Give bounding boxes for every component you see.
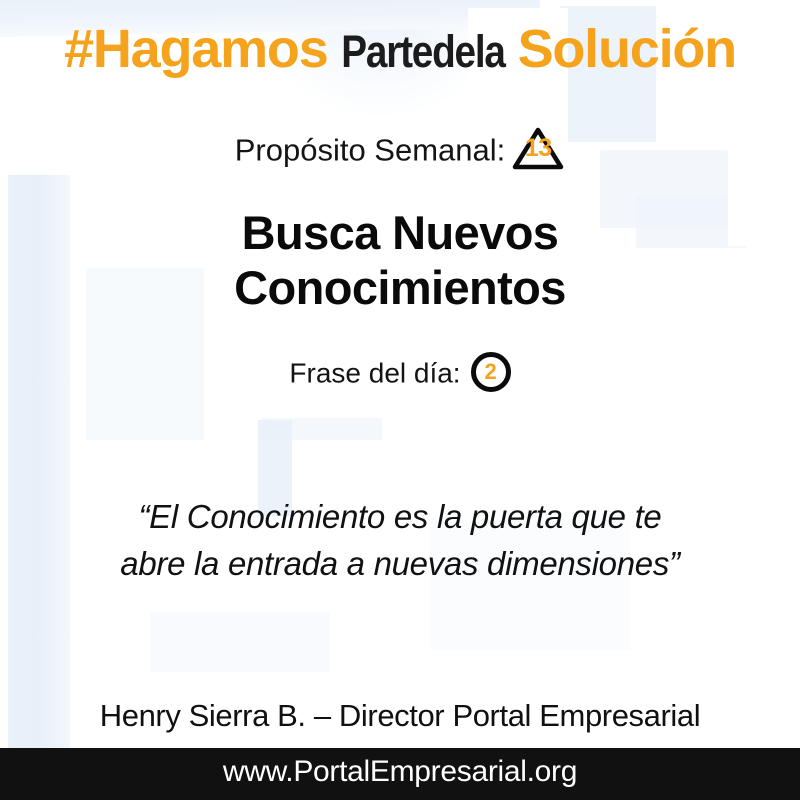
triangle-badge-icon: 13 [511, 126, 565, 172]
background-decoration [0, 0, 800, 800]
poster-canvas: #HagamosPartedelaSolución Propósito Sema… [0, 0, 800, 800]
page-title-line-1: Busca Nuevos [0, 205, 800, 260]
page-title: Busca Nuevos Conocimientos [0, 205, 800, 316]
phrase-of-day-row: Frase del día:2 [0, 352, 800, 395]
headline: #HagamosPartedelaSolución [0, 22, 800, 76]
phrase-of-day-label: Frase del día: [289, 358, 460, 389]
background-rect-i [150, 612, 330, 672]
quote-text: “El Conocimiento es la puerta que te abr… [0, 494, 800, 588]
weekly-purpose-row: Propósito Semanal:13 [0, 126, 800, 174]
headline-middle: Partedela [341, 29, 504, 74]
headline-accent-word: Solución [518, 19, 736, 79]
headline-hashtag: #Hagamos [64, 19, 328, 79]
footer-website-url[interactable]: www.PortalEmpresarial.org [0, 757, 800, 787]
quote-line-1: “El Conocimiento es la puerta que te [0, 494, 800, 541]
weekly-purpose-label: Propósito Semanal: [235, 133, 506, 168]
circle-badge-value: 2 [476, 361, 506, 383]
quote-line-2: abre la entrada a nuevas dimensiones” [0, 541, 800, 588]
page-title-line-2: Conocimientos [0, 260, 800, 315]
author-credit: Henry Sierra B. – Director Portal Empres… [0, 700, 800, 731]
footer-bar: www.PortalEmpresarial.org [0, 748, 800, 800]
circle-badge-icon: 2 [471, 352, 511, 392]
triangle-badge-value: 13 [511, 136, 565, 161]
background-rect-h [262, 418, 382, 440]
